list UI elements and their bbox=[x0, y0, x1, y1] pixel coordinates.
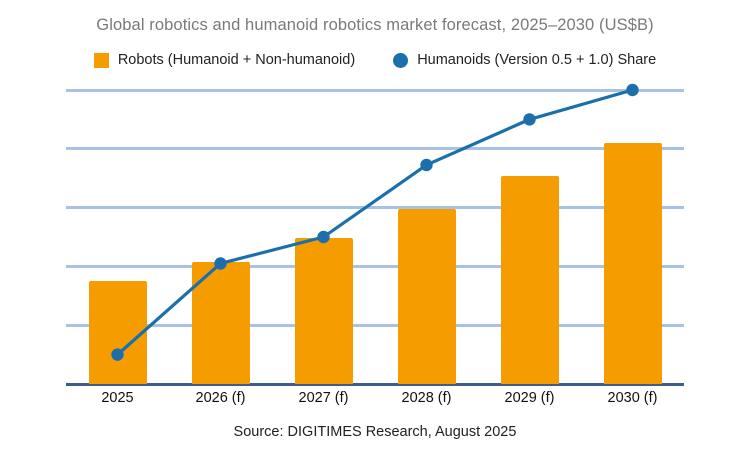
legend-circle-icon bbox=[393, 53, 408, 68]
legend-label-humanoids: Humanoids (Version 0.5 + 1.0) Share bbox=[417, 52, 656, 68]
legend-item-humanoids[interactable]: Humanoids (Version 0.5 + 1.0) Share bbox=[393, 52, 656, 68]
line-series-path bbox=[118, 90, 633, 355]
chart-title: Global robotics and humanoid robotics ma… bbox=[0, 16, 750, 35]
plot-area: 05101520250.00%0.50%1.00%1.50%2.00%20252… bbox=[66, 90, 684, 384]
line-data-point[interactable] bbox=[317, 231, 329, 243]
x-axis-tick: 2030 (f) bbox=[608, 390, 658, 406]
line-data-point[interactable] bbox=[214, 257, 226, 269]
line-data-point[interactable] bbox=[111, 348, 123, 360]
legend-item-robots[interactable]: Robots (Humanoid + Non-humanoid) bbox=[94, 52, 355, 68]
line-data-point[interactable] bbox=[523, 113, 535, 125]
x-axis-tick: 2026 (f) bbox=[196, 390, 246, 406]
line-data-point[interactable] bbox=[626, 84, 638, 96]
source-note: Source: DIGITIMES Research, August 2025 bbox=[0, 424, 750, 440]
chart-container: Global robotics and humanoid robotics ma… bbox=[0, 0, 750, 463]
x-axis-tick: 2027 (f) bbox=[299, 390, 349, 406]
line-data-point[interactable] bbox=[420, 159, 432, 171]
x-axis-tick: 2025 bbox=[101, 390, 133, 406]
line-series-layer bbox=[66, 90, 684, 384]
x-axis-tick: 2029 (f) bbox=[505, 390, 555, 406]
legend-label-robots: Robots (Humanoid + Non-humanoid) bbox=[118, 52, 355, 68]
chart-legend: Robots (Humanoid + Non-humanoid) Humanoi… bbox=[0, 52, 750, 68]
x-axis-tick: 2028 (f) bbox=[402, 390, 452, 406]
legend-square-icon bbox=[94, 53, 109, 68]
